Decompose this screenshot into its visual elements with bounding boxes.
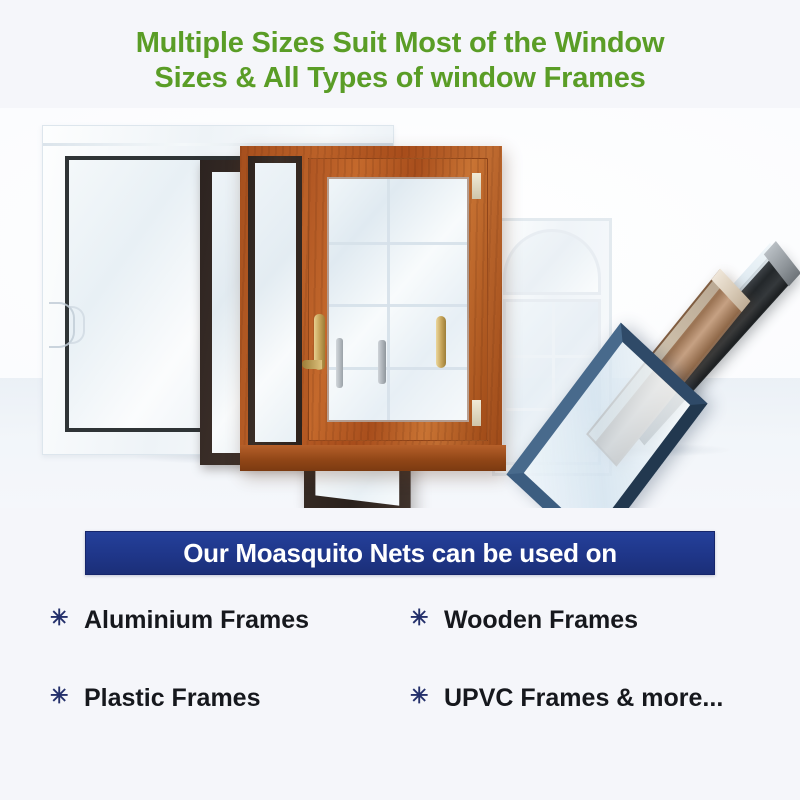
white-arched-window-arch	[503, 229, 601, 295]
dark-brown-casement-handle-icon	[378, 340, 386, 384]
list-item-label: UPVC Frames & more...	[444, 684, 723, 713]
asterisk-icon: ✳	[400, 684, 444, 708]
wooden-window-brass-handle-lever-icon	[302, 360, 322, 369]
wooden-cherry-window	[240, 146, 502, 471]
promo-page: Multiple Sizes Suit Most of the Window S…	[0, 0, 800, 800]
window-types-illustration	[0, 108, 800, 508]
list-item: ✳ UPVC Frames & more...	[400, 684, 770, 762]
wooden-window-sill	[240, 445, 506, 471]
list-item: ✳ Plastic Frames	[40, 684, 400, 762]
usage-banner-label: Our Moasquito Nets can be used on	[183, 538, 617, 569]
wooden-window-sash-glass	[327, 177, 469, 422]
wooden-window-hinge-top-icon	[472, 173, 481, 199]
page-title: Multiple Sizes Suit Most of the Window S…	[0, 26, 800, 97]
wooden-window-brass-handle-secondary-icon	[436, 316, 446, 368]
headline-line-2: Sizes & All Types of window Frames	[0, 61, 800, 96]
usage-banner: Our Moasquito Nets can be used on	[85, 531, 715, 575]
list-item: ✳ Wooden Frames	[400, 606, 770, 684]
list-item: ✳ Aluminium Frames	[40, 606, 400, 684]
white-sliding-window-handle-inner-icon	[69, 306, 85, 344]
dark-brown-casement-sash-handle-icon	[336, 338, 343, 388]
wooden-window-fixed-leaf	[248, 156, 302, 449]
list-item-label: Aluminium Frames	[84, 606, 309, 635]
list-item-label: Plastic Frames	[84, 684, 261, 713]
wooden-window-sash	[308, 158, 488, 441]
asterisk-icon: ✳	[400, 606, 444, 630]
list-item-label: Wooden Frames	[444, 606, 638, 635]
headline-line-1: Multiple Sizes Suit Most of the Window	[136, 27, 665, 59]
frame-types-list: ✳ Aluminium Frames ✳ Wooden Frames ✳ Pla…	[40, 606, 770, 762]
wooden-window-hinge-bottom-icon	[472, 400, 481, 426]
asterisk-icon: ✳	[40, 606, 84, 630]
asterisk-icon: ✳	[40, 684, 84, 708]
wooden-window-fixed-leaf-glass	[255, 163, 296, 442]
